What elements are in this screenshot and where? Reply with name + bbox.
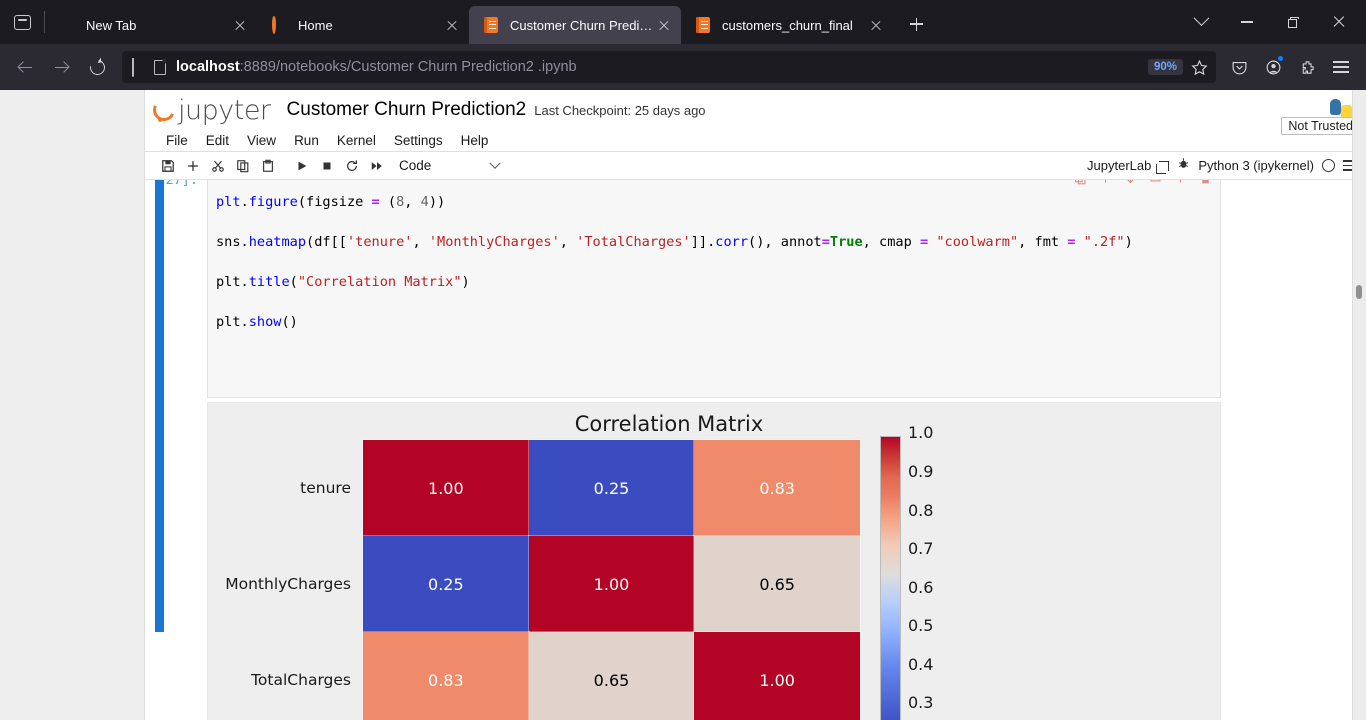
browser-navbar: localhost:8889/notebooks/Customer Churn … xyxy=(0,44,1366,90)
shield-icon[interactable] xyxy=(132,59,146,75)
jupyter-ring-icon xyxy=(150,96,178,124)
notebook-cells-area[interactable]: [27]: plt.figure(figsize = (8, 4)) sns.h… xyxy=(145,180,1366,720)
duplicate-cell-icon[interactable] xyxy=(1074,180,1087,185)
new-tab-button[interactable] xyxy=(899,7,933,41)
code-line: sns.heatmap(df[['tenure', 'MonthlyCharge… xyxy=(216,232,1212,252)
copy-button[interactable] xyxy=(230,154,255,178)
menu-bar: File Edit View Run Kernel Settings Help … xyxy=(145,130,1366,152)
jupyter-left-sidebar xyxy=(0,90,145,720)
close-icon xyxy=(1332,15,1346,29)
hamburger-icon xyxy=(1333,61,1349,73)
correlation-matrix-figure: Correlation Matrix tenure MonthlyCharges… xyxy=(207,402,1221,720)
application-menu-button[interactable] xyxy=(1324,50,1358,84)
colorbar-tick: 0.9 xyxy=(908,462,933,481)
add-cell-icon[interactable] xyxy=(1174,180,1187,185)
insert-cell-below-icon[interactable] xyxy=(1149,180,1162,185)
y-tick-label: TotalCharges xyxy=(208,632,358,720)
menu-file[interactable]: File xyxy=(157,133,197,148)
close-window-button[interactable] xyxy=(1316,2,1362,42)
colorbar xyxy=(880,436,901,720)
notebook-toolbar: Code JupyterLab Python 3 (ipykernel) xyxy=(145,152,1366,180)
notebook-inner-scrollbar[interactable] xyxy=(1223,260,1235,720)
minimize-icon xyxy=(1241,21,1253,22)
bug-icon[interactable] xyxy=(1177,157,1190,175)
tab-label: customers_churn_final xyxy=(722,18,865,33)
firefox-view-icon xyxy=(14,13,31,31)
colorbar-tick: 0.7 xyxy=(908,539,933,558)
last-checkpoint-label: Last Checkpoint: 25 days ago xyxy=(534,103,705,118)
paste-button[interactable] xyxy=(255,154,280,178)
cell-output-27: Correlation Matrix tenure MonthlyCharges… xyxy=(145,402,1366,720)
heatmap-cell: 0.65 xyxy=(529,632,695,720)
notebook-header: jupyter Customer Churn Prediction2 Last … xyxy=(145,90,1366,130)
code-line: plt.figure(figsize = (8, 4)) xyxy=(216,192,1212,212)
stop-button[interactable] xyxy=(314,154,339,178)
close-icon[interactable] xyxy=(653,14,675,36)
heatmap-cell: 1.00 xyxy=(529,536,695,632)
account-button[interactable] xyxy=(1256,50,1290,84)
tab-label: New Tab xyxy=(86,18,229,33)
url-text: localhost:8889/notebooks/Customer Churn … xyxy=(176,59,1148,75)
page-scrollbar-thumb[interactable] xyxy=(1356,285,1362,299)
insert-cell-button[interactable] xyxy=(180,154,205,178)
y-tick-label: tenure xyxy=(208,440,358,536)
heatmap-cell: 1.00 xyxy=(694,632,860,720)
url-path: :8889/notebooks/Customer Churn Predictio… xyxy=(240,59,577,75)
colorbar-tick-labels: 1.0 0.9 0.8 0.7 0.6 0.5 0.4 0.3 xyxy=(908,423,968,720)
cell-body[interactable]: plt.figure(figsize = (8, 4)) sns.heatmap… xyxy=(207,180,1221,398)
notebook-cell-27[interactable]: [27]: plt.figure(figsize = (8, 4)) sns.h… xyxy=(145,180,1366,398)
cell-toolbar xyxy=(1074,180,1212,185)
tab-list: New Tab Home Customer Churn Prediction2 xyxy=(45,0,933,44)
cell-type-select[interactable]: Code xyxy=(399,158,499,173)
close-icon[interactable] xyxy=(865,14,887,36)
zoom-level-badge[interactable]: 90% xyxy=(1148,59,1183,75)
menu-view[interactable]: View xyxy=(238,133,285,148)
heatmap-grid: 1.00 0.25 0.83 0.25 1.00 0.65 0.83 0.65 … xyxy=(363,440,860,720)
y-tick-label: MonthlyCharges xyxy=(208,536,358,632)
menu-run[interactable]: Run xyxy=(285,133,328,148)
notebook-title[interactable]: Customer Churn Prediction2 xyxy=(287,99,527,121)
maximize-button[interactable] xyxy=(1270,2,1316,42)
maximize-icon xyxy=(1288,17,1299,28)
jupyter-notebook-app: jupyter Customer Churn Prediction2 Last … xyxy=(145,90,1366,720)
menu-settings[interactable]: Settings xyxy=(385,133,452,148)
restart-kernel-button[interactable] xyxy=(339,154,364,178)
close-icon[interactable] xyxy=(229,14,251,36)
output-selection-bar xyxy=(155,262,164,632)
notification-dot xyxy=(1278,56,1283,61)
colorbar-tick: 0.5 xyxy=(908,616,933,635)
menu-edit[interactable]: Edit xyxy=(197,133,238,148)
heatmap-cell: 0.65 xyxy=(694,536,860,632)
reload-button[interactable] xyxy=(80,50,114,84)
tab-label: Customer Churn Prediction2 xyxy=(510,18,653,33)
output-body: Correlation Matrix tenure MonthlyCharges… xyxy=(207,402,1221,720)
back-arrow-icon xyxy=(19,61,32,74)
forward-button[interactable] xyxy=(44,50,78,84)
tab-customer-churn-prediction2[interactable]: Customer Churn Prediction2 xyxy=(469,6,681,44)
notebook-icon xyxy=(483,17,500,34)
external-link-icon[interactable] xyxy=(1159,161,1169,171)
heatmap-cell: 1.00 xyxy=(363,440,529,536)
colorbar-tick: 0.8 xyxy=(908,501,933,520)
list-all-tabs-button[interactable] xyxy=(1178,2,1224,42)
jupyter-logo[interactable]: jupyter xyxy=(153,95,271,126)
notebook-icon xyxy=(695,17,712,34)
jupyter-wordmark: jupyter xyxy=(178,95,271,126)
tab-label: Home xyxy=(298,18,441,33)
jupyterlab-link-label[interactable]: JupyterLab xyxy=(1087,158,1151,173)
colorbar-tick: 0.6 xyxy=(908,578,933,597)
code-line: plt.title("Correlation Matrix") xyxy=(216,272,1212,292)
colorbar-tick: 0.4 xyxy=(908,655,933,674)
page-content: jupyter Customer Churn Prediction2 Last … xyxy=(0,90,1366,720)
heatmap-cell: 0.25 xyxy=(529,440,695,536)
tab-customers-churn-final[interactable]: customers_churn_final xyxy=(681,6,893,44)
y-axis-tick-labels: tenure MonthlyCharges TotalCharges xyxy=(208,440,358,720)
heatmap-cell: 0.83 xyxy=(694,440,860,536)
chart-title: Correlation Matrix xyxy=(163,412,1175,436)
restart-and-run-all-button[interactable] xyxy=(364,154,389,178)
save-to-pocket-button[interactable] xyxy=(1222,50,1256,84)
page-scrollbar[interactable] xyxy=(1352,90,1366,720)
save-button[interactable] xyxy=(155,154,180,178)
reload-icon xyxy=(87,57,108,78)
minimize-button[interactable] xyxy=(1224,2,1270,42)
browser-tabstrip: New Tab Home Customer Churn Prediction2 xyxy=(0,0,1366,44)
chevron-down-icon xyxy=(489,157,500,168)
jupyter-ring-icon xyxy=(271,17,288,34)
close-icon[interactable] xyxy=(441,14,463,36)
back-button[interactable] xyxy=(8,50,42,84)
url-host: localhost xyxy=(176,59,240,75)
menu-help[interactable]: Help xyxy=(452,133,498,148)
address-bar[interactable]: localhost:8889/notebooks/Customer Churn … xyxy=(122,51,1216,83)
heatmap-cell: 0.25 xyxy=(363,536,529,632)
cut-button[interactable] xyxy=(205,154,230,178)
forward-arrow-icon xyxy=(55,61,68,74)
menu-kernel[interactable]: Kernel xyxy=(328,133,385,148)
tab-new-tab[interactable]: New Tab xyxy=(45,6,257,44)
run-button[interactable] xyxy=(289,154,314,178)
toolbar-right: JupyterLab Python 3 (ipykernel) xyxy=(1087,157,1366,175)
firefox-icon xyxy=(59,17,76,34)
delete-cell-icon[interactable] xyxy=(1199,180,1212,185)
cell-type-value: Code xyxy=(399,158,431,173)
move-cell-up-icon[interactable] xyxy=(1099,180,1112,185)
trust-status-badge[interactable]: Not Trusted xyxy=(1281,117,1360,135)
kernel-name-label[interactable]: Python 3 (ipykernel) xyxy=(1198,158,1314,173)
code-editor[interactable]: plt.figure(figsize = (8, 4)) sns.heatmap… xyxy=(207,180,1221,398)
chevron-down-icon xyxy=(1193,10,1209,26)
code-line: plt.show() xyxy=(216,312,1212,332)
heatmap-cell: 0.83 xyxy=(363,632,529,720)
colorbar-tick: 1.0 xyxy=(908,423,933,442)
window-controls xyxy=(1178,0,1366,44)
kernel-status-icon xyxy=(1322,159,1335,172)
page-info-icon[interactable] xyxy=(154,60,166,75)
bookmark-star-icon[interactable] xyxy=(1191,59,1208,76)
firefox-view-button[interactable] xyxy=(0,0,44,44)
browser-window: New Tab Home Customer Churn Prediction2 xyxy=(0,0,1366,720)
colorbar-tick: 0.3 xyxy=(908,693,933,712)
navbar-right-icons xyxy=(1222,50,1358,84)
move-cell-down-icon[interactable] xyxy=(1124,180,1137,185)
extensions-button[interactable] xyxy=(1290,50,1324,84)
tab-home[interactable]: Home xyxy=(257,6,469,44)
